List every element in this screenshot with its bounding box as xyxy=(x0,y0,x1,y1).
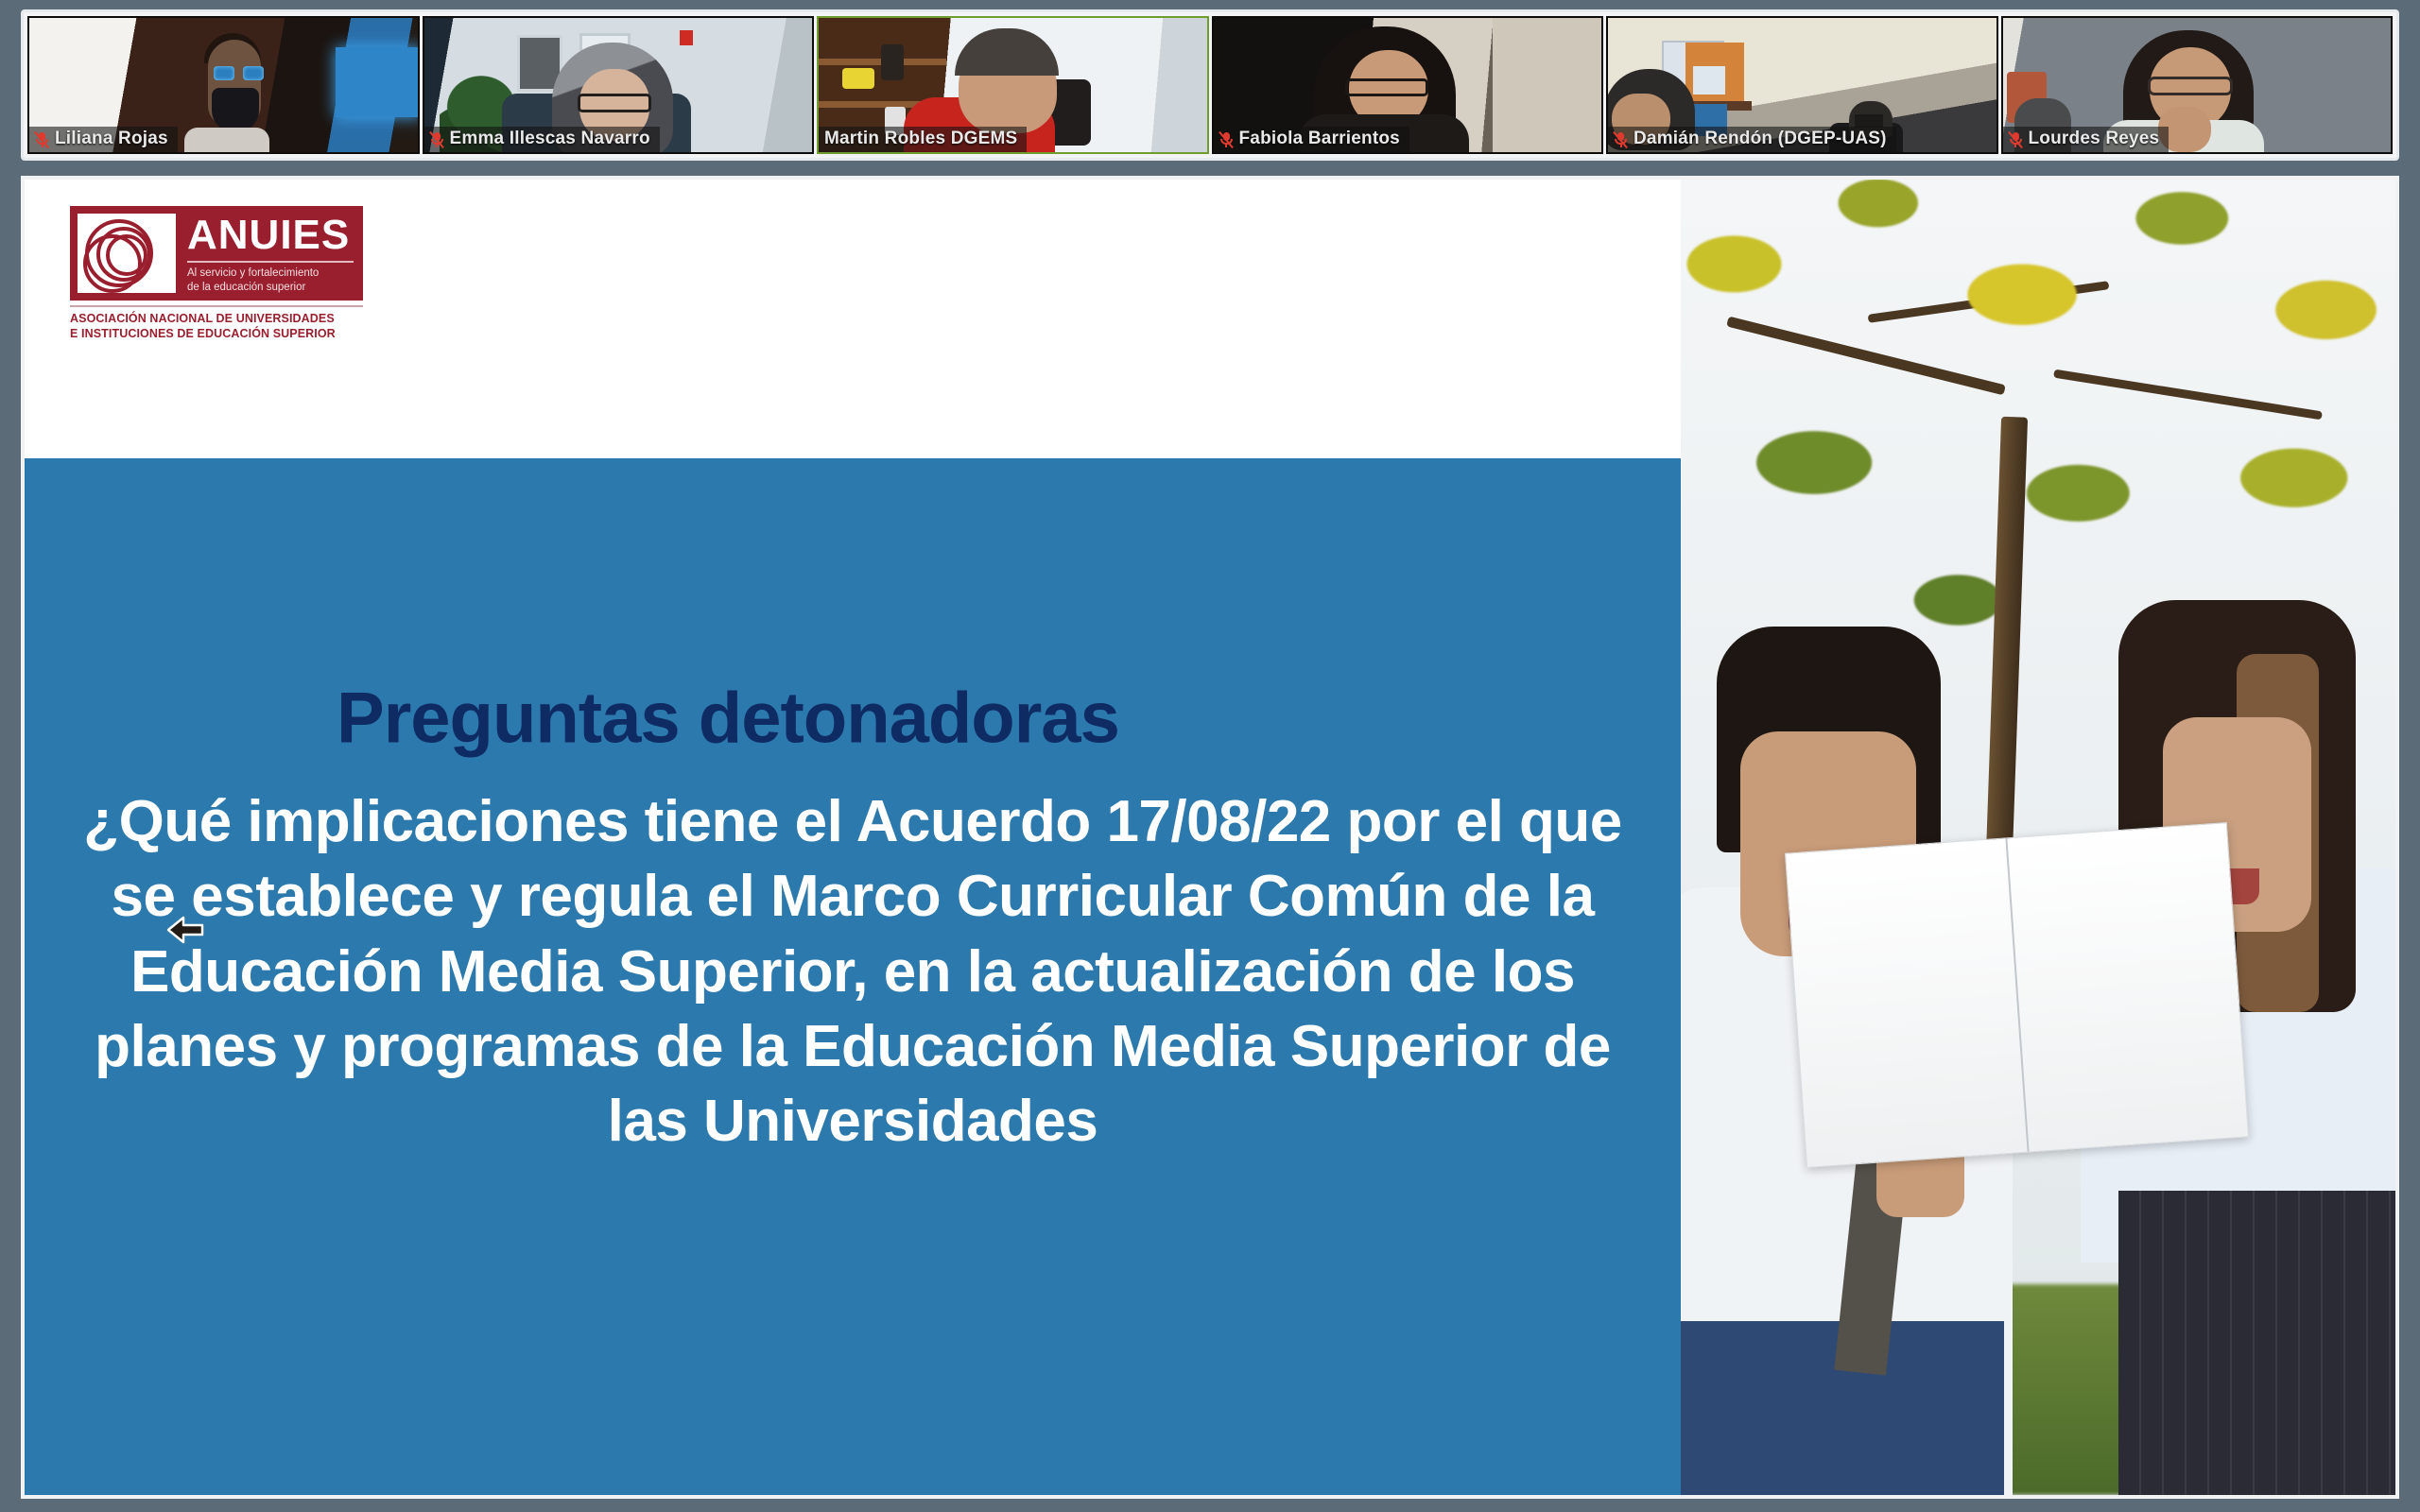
slide-text-column: ANUIES Al servicio y fortalecimiento de … xyxy=(25,180,1681,1495)
mic-muted-icon xyxy=(1219,130,1234,148)
participant-name-badge: Martin Robles DGEMS xyxy=(819,127,1027,152)
logo-subtitle-line1: ASOCIACIÓN NACIONAL DE UNIVERSIDADES xyxy=(70,311,382,326)
participant-tile-fabiola-barrientos[interactable]: Fabiola Barrientos xyxy=(1212,16,1604,154)
participant-tile-liliana-rojas[interactable]: Liliana Rojas xyxy=(27,16,420,154)
participant-name: Lourdes Reyes xyxy=(2029,129,2160,149)
presentation-slide: ANUIES Al servicio y fortalecimiento de … xyxy=(25,180,2395,1495)
participant-tile-damian-rendon[interactable]: Damián Rendón (DGEP-UAS) xyxy=(1606,16,1998,154)
open-document xyxy=(1785,822,2249,1168)
mic-muted-icon xyxy=(1614,130,1628,148)
participant-name-badge: Damián Rendón (DGEP-UAS) xyxy=(1608,127,1896,152)
logo-tagline-line2: de la educación superior xyxy=(187,281,354,294)
slide-title: Preguntas detonadoras xyxy=(337,678,1119,760)
mic-muted-icon xyxy=(2009,130,2023,148)
logo-wordmark: ANUIES xyxy=(187,215,354,256)
slide-question-text: ¿Qué implicaciones tiene el Acuerdo 17/0… xyxy=(62,784,1643,1160)
mic-muted-icon xyxy=(430,130,444,148)
participant-name-badge: Fabiola Barrientos xyxy=(1214,127,1409,152)
participant-name: Fabiola Barrientos xyxy=(1239,129,1400,149)
logo-subtitle-line2: E INSTITUCIONES DE EDUCACIÓN SUPERIOR xyxy=(70,326,382,341)
participant-name-badge: Emma Illescas Navarro xyxy=(424,127,660,152)
participant-filmstrip[interactable]: Liliana Rojas Emma Illescas Navarro Mart… xyxy=(21,9,2399,161)
participant-tile-emma-illescas-navarro[interactable]: Emma Illescas Navarro xyxy=(423,16,815,154)
anuies-rings-icon xyxy=(78,214,176,293)
slide-photo xyxy=(1681,180,2395,1495)
participant-name: Martin Robles DGEMS xyxy=(824,129,1017,149)
participant-name-badge: Liliana Rojas xyxy=(29,127,178,152)
mic-muted-icon xyxy=(35,130,49,148)
participant-name: Damián Rendón (DGEP-UAS) xyxy=(1633,129,1887,149)
participant-tile-lourdes-reyes[interactable]: Lourdes Reyes xyxy=(2001,16,2394,154)
participant-name-badge: Lourdes Reyes xyxy=(2003,127,2169,152)
participant-name: Emma Illescas Navarro xyxy=(450,129,650,149)
participant-name: Liliana Rojas xyxy=(55,129,168,149)
anuies-logo: ANUIES Al servicio y fortalecimiento de … xyxy=(70,206,391,342)
shared-screen-area[interactable]: ANUIES Al servicio y fortalecimiento de … xyxy=(21,176,2399,1499)
logo-tagline-line1: Al servicio y fortalecimiento xyxy=(187,266,354,280)
participant-tile-martin-robles-dgems[interactable]: Martin Robles DGEMS xyxy=(817,16,1209,154)
